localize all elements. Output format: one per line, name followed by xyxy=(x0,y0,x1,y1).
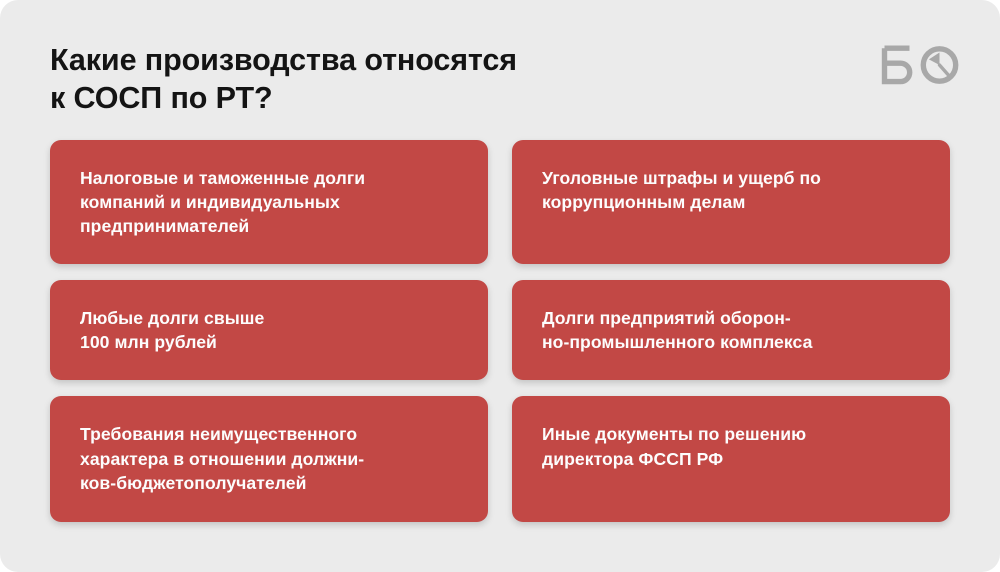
cards-grid: Налоговые и таможенные долги компаний и … xyxy=(50,140,950,522)
logo-bo-mark xyxy=(878,43,964,87)
card-item[interactable]: Налоговые и таможенные долги компаний и … xyxy=(50,140,488,264)
card-item[interactable]: Любые долги свыше 100 млн рублей xyxy=(50,280,488,380)
page-title: Какие производства относятся к СОСП по Р… xyxy=(50,42,690,117)
card-text: Долги предприятий оборон- но-промышленно… xyxy=(542,306,812,354)
card-text: Налоговые и таможенные долги компаний и … xyxy=(80,166,365,238)
clock-icon xyxy=(923,49,955,81)
header: Какие производства относятся к СОСП по Р… xyxy=(50,42,962,114)
logo-letter-b xyxy=(885,48,910,81)
card-text: Любые долги свыше 100 млн рублей xyxy=(80,306,264,354)
infographic-canvas: Какие производства относятся к СОСП по Р… xyxy=(0,0,1000,572)
card-text: Уголовные штрафы и ущерб по коррупционны… xyxy=(542,166,821,214)
card-text: Иные документы по решению директора ФССП… xyxy=(542,422,806,470)
logo xyxy=(878,43,964,87)
card-text: Требования неимущественного характера в … xyxy=(80,422,364,494)
card-item[interactable]: Требования неимущественного характера в … xyxy=(50,396,488,522)
card-item[interactable]: Долги предприятий оборон- но-промышленно… xyxy=(512,280,950,380)
card-item[interactable]: Иные документы по решению директора ФССП… xyxy=(512,396,950,522)
card-item[interactable]: Уголовные штрафы и ущерб по коррупционны… xyxy=(512,140,950,264)
